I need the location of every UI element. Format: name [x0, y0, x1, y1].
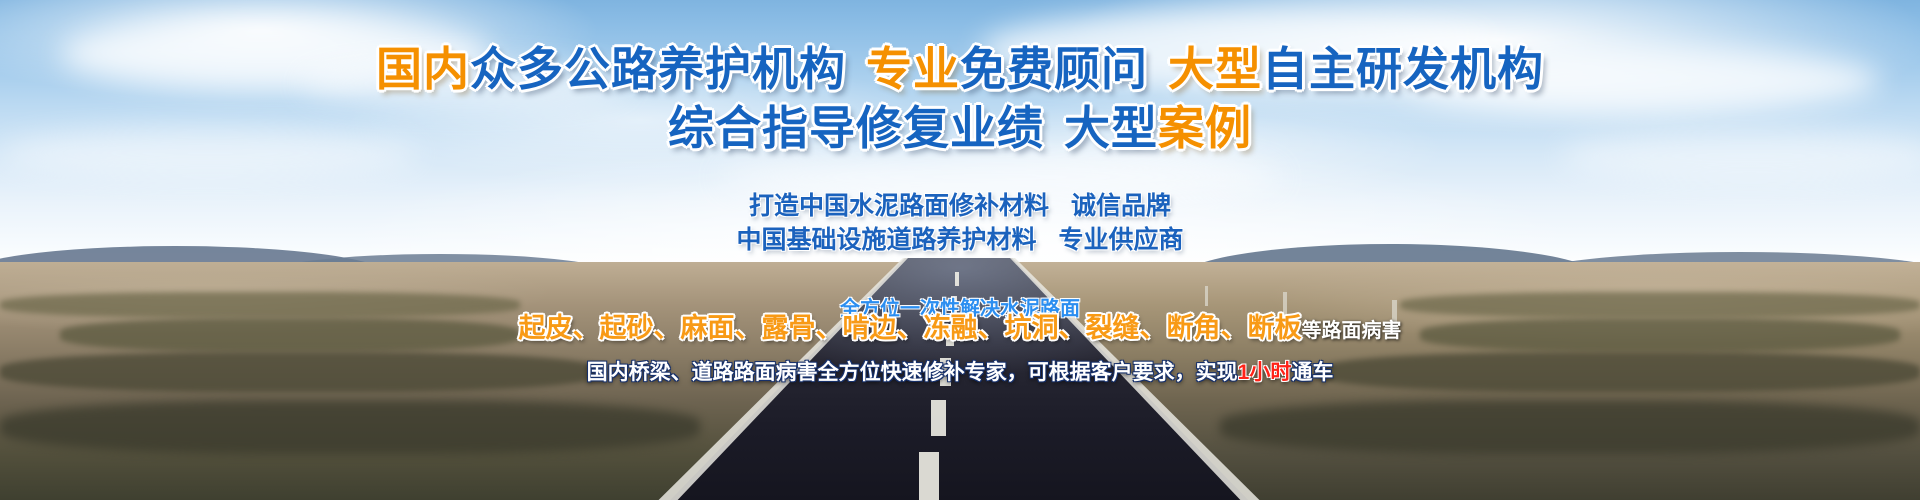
subhead-professional-supplier: 专业供应商 — [1059, 226, 1184, 254]
defect-term: 断角 — [1167, 313, 1221, 343]
headline-line-2: 综合指导修复业绩大型案例 — [0, 105, 1920, 151]
highway-repair-hero-banner: 国内众多公路养护机构专业免费顾问大型自主研发机构 综合指导修复业绩大型案例 打造… — [0, 0, 1920, 500]
defect-separator: 、 — [1059, 313, 1086, 343]
defect-term: 露骨 — [762, 313, 816, 343]
headline-segment-agencies: 众多公路养护机构 — [470, 43, 846, 95]
defect-term: 起砂 — [600, 313, 654, 343]
headline-segment-professional: 专业 — [866, 43, 960, 95]
closing-suffix-text: 通车 — [1291, 361, 1333, 384]
headline-segment-large-scale: 大型 — [1168, 43, 1262, 95]
subhead-line-1: 打造中国水泥路面修补材料诚信品牌 — [0, 190, 1920, 224]
defect-separator: 、 — [1221, 313, 1248, 343]
defect-separator: 、 — [816, 313, 843, 343]
closing-highlight-one-hour: 1小时 — [1238, 361, 1292, 384]
defect-term: 起皮 — [519, 313, 573, 343]
defect-term: 断板 — [1248, 313, 1302, 343]
headline-segment-free-consult: 免费顾问 — [960, 43, 1148, 95]
defect-term: 坑洞 — [1005, 313, 1059, 343]
defect-term: 麻面 — [681, 313, 735, 343]
defect-term: 啃边 — [843, 313, 897, 343]
defect-term: 冻融 — [924, 313, 978, 343]
subhead-infrastructure-material: 中国基础设施道路养护材料 — [736, 226, 1036, 254]
defect-separator: 、 — [1140, 313, 1167, 343]
headline-segment-rnd-org: 自主研发机构 — [1262, 43, 1544, 95]
subhead-trusted-brand: 诚信品牌 — [1071, 192, 1171, 220]
defect-separator: 、 — [897, 313, 924, 343]
headline-segment-case: 案例 — [1158, 102, 1252, 154]
closing-prefix-text: 国内桥梁、道路路面病害全方位快速修补专家，可根据客户要求，实现 — [587, 361, 1238, 384]
headline-segment-large: 大型 — [1064, 102, 1158, 154]
road-center-dash — [931, 400, 946, 436]
roadside-scrub — [1220, 400, 1920, 454]
headline-line-1: 国内众多公路养护机构专业免费顾问大型自主研发机构 — [0, 46, 1920, 92]
defect-separator: 、 — [573, 313, 600, 343]
defect-list-tail: 等路面病害 — [1302, 320, 1402, 342]
defect-term: 裂缝 — [1086, 313, 1140, 343]
bottom-closing-line: 国内桥梁、道路路面病害全方位快速修补专家，可根据客户要求，实现1小时通车 — [0, 356, 1920, 386]
bottom-defect-list: 起皮、起砂、麻面、露骨、啃边、冻融、坑洞、裂缝、断角、断板等路面病害 — [0, 315, 1920, 342]
subhead-brand-material: 打造中国水泥路面修补材料 — [749, 192, 1049, 220]
defect-separator: 、 — [654, 313, 681, 343]
defect-separator: 、 — [735, 313, 762, 343]
road-center-dash — [955, 272, 959, 286]
headline-segment-guidance-results: 综合指导修复业绩 — [668, 102, 1044, 154]
subhead-line-2: 中国基础设施道路养护材料专业供应商 — [0, 224, 1920, 258]
road-center-dash — [919, 452, 939, 500]
roadside-scrub — [0, 400, 700, 454]
defect-separator: 、 — [978, 313, 1005, 343]
headline-segment-domestic: 国内 — [376, 43, 470, 95]
